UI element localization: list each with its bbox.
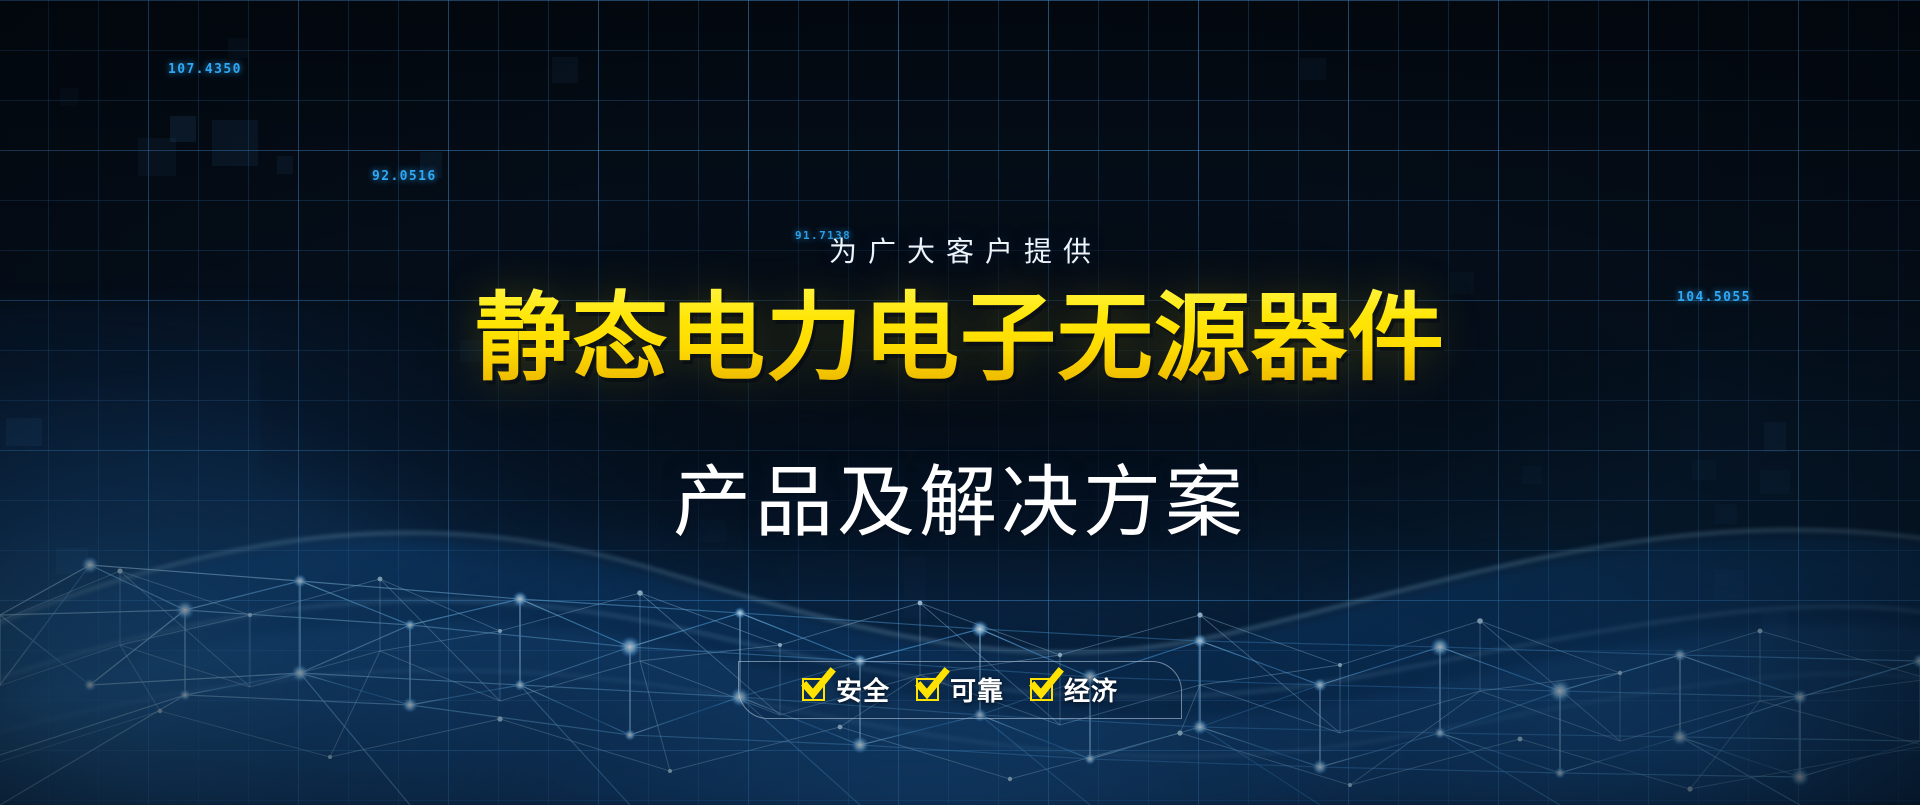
banner-content: 为广大客户提供 静态电力电子无源器件 产品及解决方案 安全 可靠 — [0, 0, 1920, 805]
feature-item: 经济 — [1030, 671, 1118, 708]
eyebrow-text: 为广大客户提供 — [818, 230, 1102, 270]
feature-item: 可靠 — [916, 671, 1004, 708]
headline-title: 静态电力电子无源器件 — [475, 288, 1445, 390]
feature-label: 经济 — [1064, 671, 1118, 708]
checkbox-checked-icon — [916, 678, 939, 701]
feature-label: 可靠 — [950, 671, 1004, 708]
feature-item: 安全 — [802, 671, 890, 708]
feature-label: 安全 — [836, 671, 890, 708]
subheadline-title: 产品及解决方案 — [673, 460, 1247, 546]
feature-badge-box: 安全 可靠 经济 — [738, 661, 1182, 719]
hero-banner: 107.4350 92.0516 91.7138 104.5055 为广大客户提… — [0, 0, 1920, 805]
checkbox-checked-icon — [1030, 678, 1053, 701]
checkbox-checked-icon — [802, 678, 825, 701]
